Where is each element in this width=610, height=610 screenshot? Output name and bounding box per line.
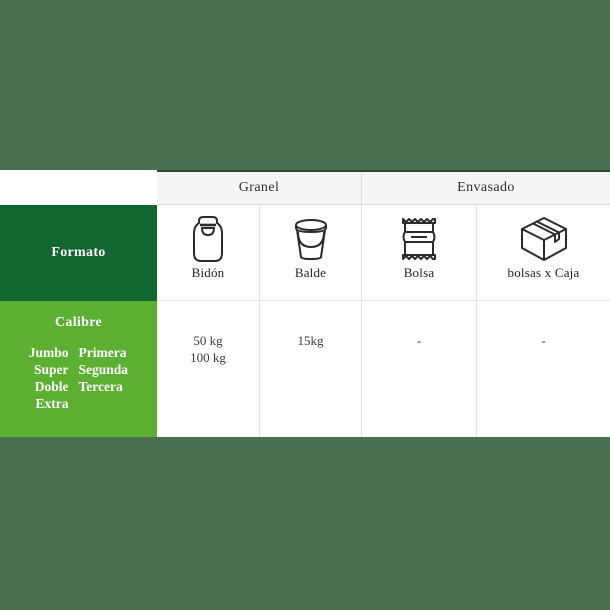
format-column-bolsa: Bolsa - — [362, 205, 477, 437]
format-columns: Bidón 50 kg 100 kg — [157, 205, 610, 437]
format-name-caja: bolsas x Caja — [508, 265, 580, 281]
value-cell-caja: - — [477, 301, 610, 437]
formato-label: Formato — [51, 245, 105, 261]
calibre-item-extra: Extra — [9, 395, 69, 412]
format-header-bolsa: Bolsa — [362, 205, 476, 301]
value-bolsa-line-1: - — [417, 332, 421, 349]
calibre-item-jumbo: Jumbo — [9, 344, 69, 361]
row-label-column: Formato Calibre Jumbo Super Doble Extra … — [0, 205, 157, 437]
calibre-list: Jumbo Super Doble Extra Primera Segunda … — [9, 344, 149, 412]
table-body: Formato Calibre Jumbo Super Doble Extra … — [0, 205, 610, 437]
jug-icon — [191, 213, 225, 265]
value-balde-line-1: 15kg — [298, 332, 324, 349]
calibre-item-super: Super — [9, 361, 69, 378]
value-bidon-line-2: 100 kg — [190, 349, 226, 366]
format-name-bidon: Bidón — [192, 265, 225, 281]
format-name-balde: Balde — [295, 265, 326, 281]
bucket-icon — [290, 213, 332, 265]
pouch-icon — [397, 213, 441, 265]
format-header-caja: bolsas x Caja — [477, 205, 610, 301]
format-name-bolsa: Bolsa — [404, 265, 435, 281]
calibre-list-column-a: Jumbo Super Doble Extra — [9, 344, 69, 412]
calibre-title: Calibre — [55, 315, 102, 331]
calibre-item-tercera: Tercera — [79, 378, 149, 395]
format-header-bidon: Bidón — [157, 205, 259, 301]
format-column-bidon: Bidón 50 kg 100 kg — [157, 205, 260, 437]
box-icon — [518, 213, 570, 265]
calibre-list-column-b: Primera Segunda Tercera — [79, 344, 149, 412]
value-caja-line-1: - — [541, 332, 545, 349]
format-header-balde: Balde — [260, 205, 361, 301]
value-cell-bidon: 50 kg 100 kg — [157, 301, 259, 437]
value-bidon-line-1: 50 kg — [190, 332, 226, 349]
table-group-header-row: Granel Envasado — [157, 172, 610, 205]
column-group-envasado: Envasado — [362, 172, 610, 204]
format-column-caja: bolsas x Caja - — [477, 205, 610, 437]
format-column-balde: Balde 15kg — [260, 205, 362, 437]
calibre-item-primera: Primera — [79, 344, 149, 361]
column-group-granel: Granel — [157, 172, 362, 204]
format-comparison-table: Granel Envasado Formato Calibre Jumbo Su… — [0, 170, 610, 437]
calibre-item-doble: Doble — [9, 378, 69, 395]
value-cell-bolsa: - — [362, 301, 476, 437]
value-cell-balde: 15kg — [260, 301, 361, 437]
row-label-formato: Formato — [0, 205, 157, 301]
row-label-calibre: Calibre Jumbo Super Doble Extra Primera … — [0, 301, 157, 437]
calibre-item-segunda: Segunda — [79, 361, 149, 378]
